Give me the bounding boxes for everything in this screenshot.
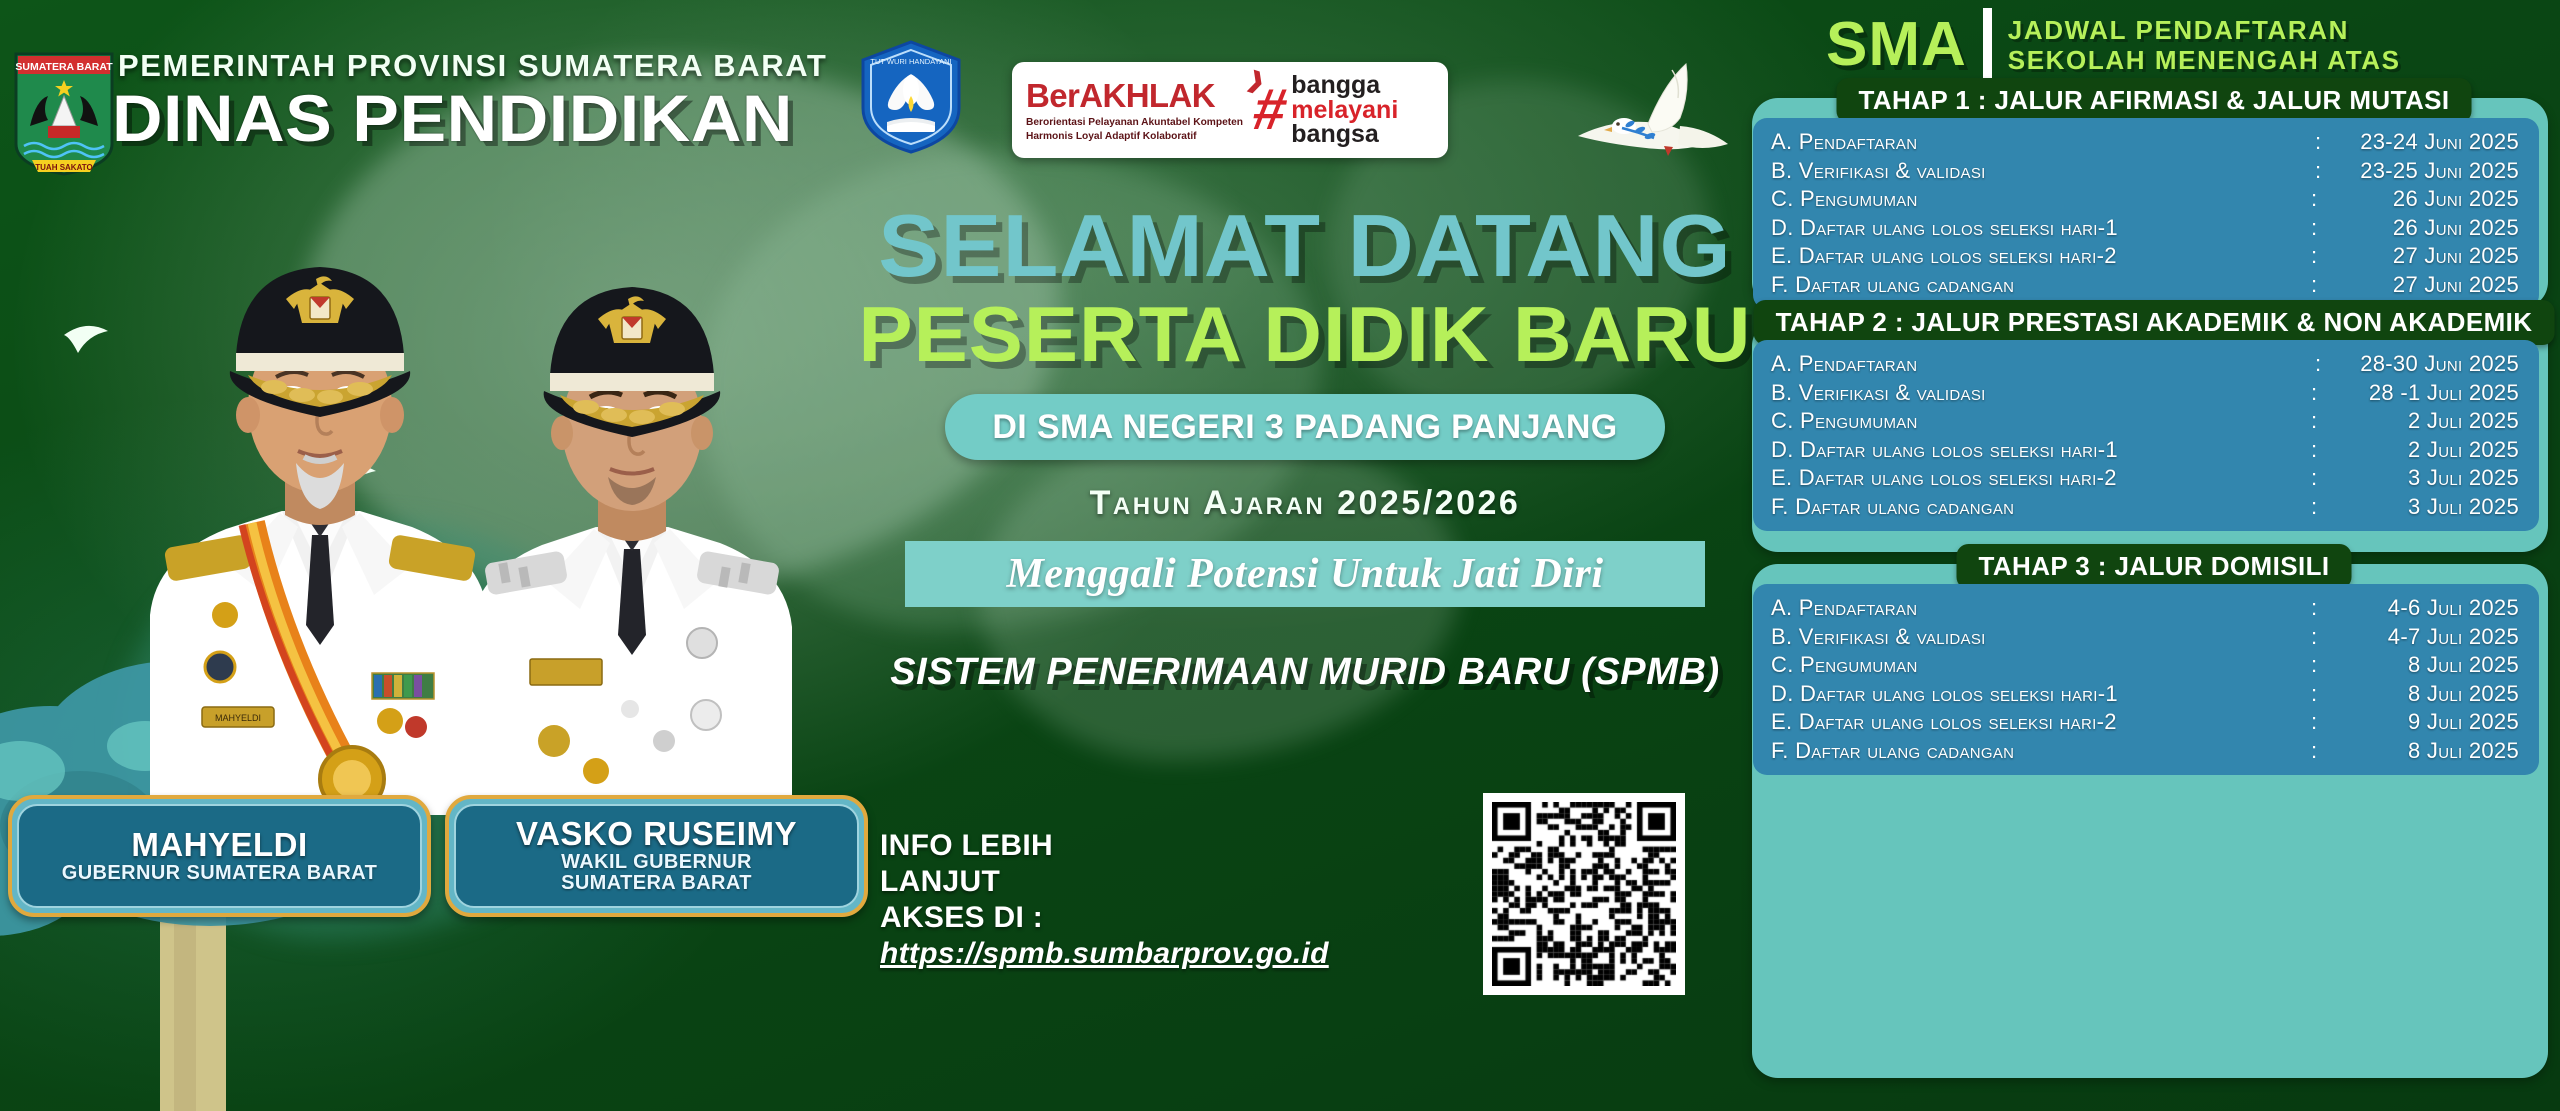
schedule-row-date: 3 Juli 2025 [2321, 493, 2519, 522]
governor-role: GUBERNUR SUMATERA BARAT [62, 863, 377, 885]
schedule-row-date: 2 Juli 2025 [2321, 436, 2519, 465]
qr-code[interactable] [1483, 793, 1685, 995]
schedule-row: B. Verifikasi & validasi:4-7 Juli 2025 [1771, 623, 2519, 652]
berakhlak-wordmark: BerAKHLAK❱ [1026, 77, 1254, 115]
officials-nameplates: MAHYELDI GUBERNUR SUMATERA BARAT VASKO R… [8, 795, 868, 917]
schedule-row: A. Pendaftaran:4-6 Juli 2025 [1771, 594, 2519, 623]
dove-icon [1560, 48, 1750, 168]
berakhlak-word: BerAKHLAK [1026, 77, 1215, 114]
schedule-title-line-1: JADWAL PENDAFTARAN [2008, 15, 2401, 45]
official-left-figure: MAHYELDI [150, 267, 488, 815]
schedule-row-colon: : [2307, 493, 2321, 522]
stage-2-heading-pill: TAHAP 2 : JALUR PRESTASI AKADEMIK & NON … [1754, 300, 2555, 345]
access-prefix-label: AKSES DI : [880, 901, 1043, 934]
bangga-line: bangga [1291, 73, 1398, 98]
stage-3-rows: A. Pendaftaran:4-6 Juli 2025B. Verifikas… [1753, 584, 2539, 775]
schedule-row-label: D. Daftar ulang lolos seleksi hari-1 [1771, 680, 2307, 709]
schedule-row-label: C. Pengumuman [1771, 651, 2307, 680]
school-motto-label: Menggali Potensi Untuk Jati Diri [1006, 550, 1603, 598]
stage-3-heading-label: TAHAP 3 : JALUR DOMISILI [1979, 551, 2330, 581]
spmb-system-label: SISTEM PENERIMAAN MURID BARU (SPMB) [855, 651, 1755, 694]
hero-block: SELAMAT DATANG PESERTA DIDIK BARU DI SMA… [855, 195, 1755, 694]
governors-photo: MAHYELDI [30, 175, 830, 815]
spmb-url-link[interactable]: https://spmb.sumbarprov.go.id [880, 937, 1329, 970]
schedule-row-date: 23-24 Juni 2025 [2321, 128, 2519, 157]
education-level-code: SMA [1826, 14, 1967, 76]
schedule-row-colon: : [2307, 651, 2321, 680]
schedule-row-label: B. Verifikasi & validasi [1771, 379, 2307, 408]
schedule-row-label: C. Pengumuman [1771, 407, 2307, 436]
svg-text:MAHYELDI: MAHYELDI [215, 713, 261, 723]
schedule-row: E. Daftar ulang lolos seleksi hari-2:27 … [1771, 242, 2519, 271]
svg-text:TUT WURI HANDAYANI: TUT WURI HANDAYANI [870, 57, 951, 66]
schedule-row-date: 23-25 Juni 2025 [2321, 157, 2519, 186]
schedule-row-colon: : [2307, 214, 2321, 243]
vice-governor-name: VASKO RUSEIMY [516, 817, 797, 852]
schedule-row-date: 27 Juni 2025 [2321, 242, 2519, 271]
schedule-row-date: 28 -1 Juli 2025 [2321, 379, 2519, 408]
schedule-row-date: 8 Juli 2025 [2321, 651, 2519, 680]
schedule-row-label: A. Pendaftaran [1771, 350, 2315, 379]
schedule-row-date: 9 Juli 2025 [2321, 708, 2519, 737]
schedule-row-colon: : [2307, 680, 2321, 709]
schedule-row: F. Daftar ulang cadangan:27 Juni 2025 [1771, 271, 2519, 300]
official-right-figure [470, 287, 792, 815]
school-motto-banner: Menggali Potensi Untuk Jati Diri [905, 541, 1705, 607]
schedule-title-line-2: SEKOLAH MENENGAH ATAS [2008, 45, 2401, 75]
school-year-label: Tahun Ajaran 2025/2026 [855, 484, 1755, 523]
svg-text:TUAH SAKATO: TUAH SAKATO [35, 163, 92, 172]
info-line-2: LANJUT [880, 864, 1500, 900]
schedule-row: D. Daftar ulang lolos seleksi hari-1:2 J… [1771, 436, 2519, 465]
schedule-row: E. Daftar ulang lolos seleksi hari-2:3 J… [1771, 464, 2519, 493]
schedule-row-label: A. Pendaftaran [1771, 128, 2315, 157]
schedule-row-label: E. Daftar ulang lolos seleksi hari-2 [1771, 242, 2307, 271]
schedule-row-label: E. Daftar ulang lolos seleksi hari-2 [1771, 464, 2307, 493]
vice-governor-role: WAKIL GUBERNUR SUMATERA BARAT [561, 852, 752, 895]
stage-2-rows: A. Pendaftaran:28-30 Juni 2025B. Verifik… [1753, 340, 2539, 531]
schedule-row-label: C. Pengumuman [1771, 185, 2307, 214]
berakhlak-subline-1: Berorientasi Pelayanan Akuntabel Kompete… [1026, 116, 1254, 129]
schedule-row-label: D. Daftar ulang lolos seleksi hari-1 [1771, 214, 2307, 243]
schedule-row-label: A. Pendaftaran [1771, 594, 2307, 623]
bangga-text-block: bangga melayani bangsa [1291, 73, 1398, 147]
schedule-row: C. Pengumuman:26 Juni 2025 [1771, 185, 2519, 214]
stage-3-heading-pill: TAHAP 3 : JALUR DOMISILI [1957, 544, 2352, 589]
schedule-panel-header: SMA JADWAL PENDAFTARAN SEKOLAH MENENGAH … [1826, 8, 2401, 82]
schedule-row: D. Daftar ulang lolos seleksi hari-1:8 J… [1771, 680, 2519, 709]
info-line-3: AKSES DI : https://spmb.sumbarprov.go.id [880, 900, 1500, 972]
schedule-row: A. Pendaftaran:28-30 Juni 2025 [1771, 350, 2519, 379]
schedule-row: C. Pengumuman:8 Juli 2025 [1771, 651, 2519, 680]
schedule-row-date: 28-30 Juni 2025 [2321, 350, 2519, 379]
berakhlak-subline-2: Harmonis Loyal Adaptif Kolaboratif [1026, 130, 1254, 143]
governor-name: MAHYELDI [131, 828, 307, 863]
schedule-row: D. Daftar ulang lolos seleksi hari-1:26 … [1771, 214, 2519, 243]
nameplate-governor: MAHYELDI GUBERNUR SUMATERA BARAT [8, 795, 431, 917]
schedule-row: F. Daftar ulang cadangan:3 Juli 2025 [1771, 493, 2519, 522]
stage-1-heading-pill: TAHAP 1 : JALUR AFIRMASI & JALUR MUTASI [1837, 78, 2472, 123]
schedule-row-colon: : [2307, 737, 2321, 766]
schedule-row-date: 3 Juli 2025 [2321, 464, 2519, 493]
government-line: PEMERINTAH PROVINSI SUMATERA BARAT [118, 48, 827, 84]
schedule-row-date: 4-7 Juli 2025 [2321, 623, 2519, 652]
info-block: INFO LEBIH LANJUT AKSES DI : https://spm… [880, 828, 1500, 972]
schedule-row-colon: : [2307, 464, 2321, 493]
sumatera-barat-crest-icon: SUMATERA BARAT TUAH SAKATO [8, 48, 120, 178]
stage-2-heading-label: TAHAP 2 : JALUR PRESTASI AKADEMIK & NON … [1776, 307, 2533, 337]
schedule-row-label: E. Daftar ulang lolos seleksi hari-2 [1771, 708, 2307, 737]
melayani-line: melayani [1291, 98, 1398, 123]
bangga-melayani-bangsa-logo: # bangga melayani bangsa [1254, 73, 1398, 147]
schedule-row: E. Daftar ulang lolos seleksi hari-2:9 J… [1771, 708, 2519, 737]
schedule-row-label: F. Daftar ulang cadangan [1771, 493, 2307, 522]
schedule-row: F. Daftar ulang cadangan:8 Juli 2025 [1771, 737, 2519, 766]
schedule-row-label: B. Verifikasi & validasi [1771, 623, 2307, 652]
schedule-row-colon: : [2307, 594, 2321, 623]
schedule-panel: SMA JADWAL PENDAFTARAN SEKOLAH MENENGAH … [1748, 0, 2560, 1111]
schedule-row-colon: : [2307, 242, 2321, 271]
poster-header: SUMATERA BARAT TUAH SAKATO PEMERINTAH PR… [0, 0, 1760, 190]
schedule-row: B. Verifikasi & validasi:23-25 Juni 2025 [1771, 157, 2519, 186]
schedule-panel-titles: JADWAL PENDAFTARAN SEKOLAH MENENGAH ATAS [2008, 15, 2401, 75]
schedule-row-colon: : [2307, 708, 2321, 737]
bangsa-line: bangsa [1291, 122, 1398, 147]
schedule-row-date: 2 Juli 2025 [2321, 407, 2519, 436]
schedule-row-label: B. Verifikasi & validasi [1771, 157, 2315, 186]
schedule-row: B. Verifikasi & validasi:28 -1 Juli 2025 [1771, 379, 2519, 408]
schedule-row-colon: : [2307, 271, 2321, 300]
berakhlak-text-block: BerAKHLAK❱ Berorientasi Pelayanan Akunta… [1012, 77, 1254, 143]
info-line-1: INFO LEBIH [880, 828, 1500, 864]
stage-1-rows: A. Pendaftaran:23-24 Juni 2025B. Verifik… [1753, 118, 2539, 309]
stage-1-heading-label: TAHAP 1 : JALUR AFIRMASI & JALUR MUTASI [1859, 85, 2450, 115]
schedule-row-colon: : [2307, 185, 2321, 214]
tut-wuri-handayani-logo-icon: TUT WURI HANDAYANI [855, 38, 967, 156]
schedule-row-colon: : [2307, 379, 2321, 408]
schedule-row-date: 26 Juni 2025 [2321, 185, 2519, 214]
svg-text:SUMATERA BARAT: SUMATERA BARAT [15, 61, 113, 73]
nameplate-vice-governor: VASKO RUSEIMY WAKIL GUBERNUR SUMATERA BA… [445, 795, 868, 917]
schedule-row-label: D. Daftar ulang lolos seleksi hari-1 [1771, 436, 2307, 465]
welcome-line-1: SELAMAT DATANG [837, 195, 1773, 297]
schedule-row-date: 8 Juli 2025 [2321, 737, 2519, 766]
header-divider [1983, 8, 1992, 82]
schedule-row-colon: : [2307, 623, 2321, 652]
schedule-row: C. Pengumuman:2 Juli 2025 [1771, 407, 2519, 436]
schedule-row-date: 26 Juni 2025 [2321, 214, 2519, 243]
hash-icon: # [1250, 87, 1290, 133]
schedule-row-label: F. Daftar ulang cadangan [1771, 737, 2307, 766]
school-name-label: DI SMA NEGERI 3 PADANG PANJANG [992, 408, 1617, 447]
schedule-row-colon: : [2307, 436, 2321, 465]
welcome-line-2: PESERTA DIDIK BARU [837, 289, 1773, 380]
schedule-row-date: 8 Juli 2025 [2321, 680, 2519, 709]
schedule-row-date: 27 Juni 2025 [2321, 271, 2519, 300]
schedule-row: A. Pendaftaran:23-24 Juni 2025 [1771, 128, 2519, 157]
school-name-pill: DI SMA NEGERI 3 PADANG PANJANG [945, 394, 1665, 460]
schedule-row-colon: : [2307, 407, 2321, 436]
berakhlak-logo-card: BerAKHLAK❱ Berorientasi Pelayanan Akunta… [1012, 62, 1448, 158]
bird-icon [64, 326, 108, 353]
schedule-row-date: 4-6 Juli 2025 [2321, 594, 2519, 623]
department-title: DINAS PENDIDIKAN [112, 80, 793, 156]
schedule-row-label: F. Daftar ulang cadangan [1771, 271, 2307, 300]
poster-canvas: SUMATERA BARAT TUAH SAKATO PEMERINTAH PR… [0, 0, 2560, 1111]
